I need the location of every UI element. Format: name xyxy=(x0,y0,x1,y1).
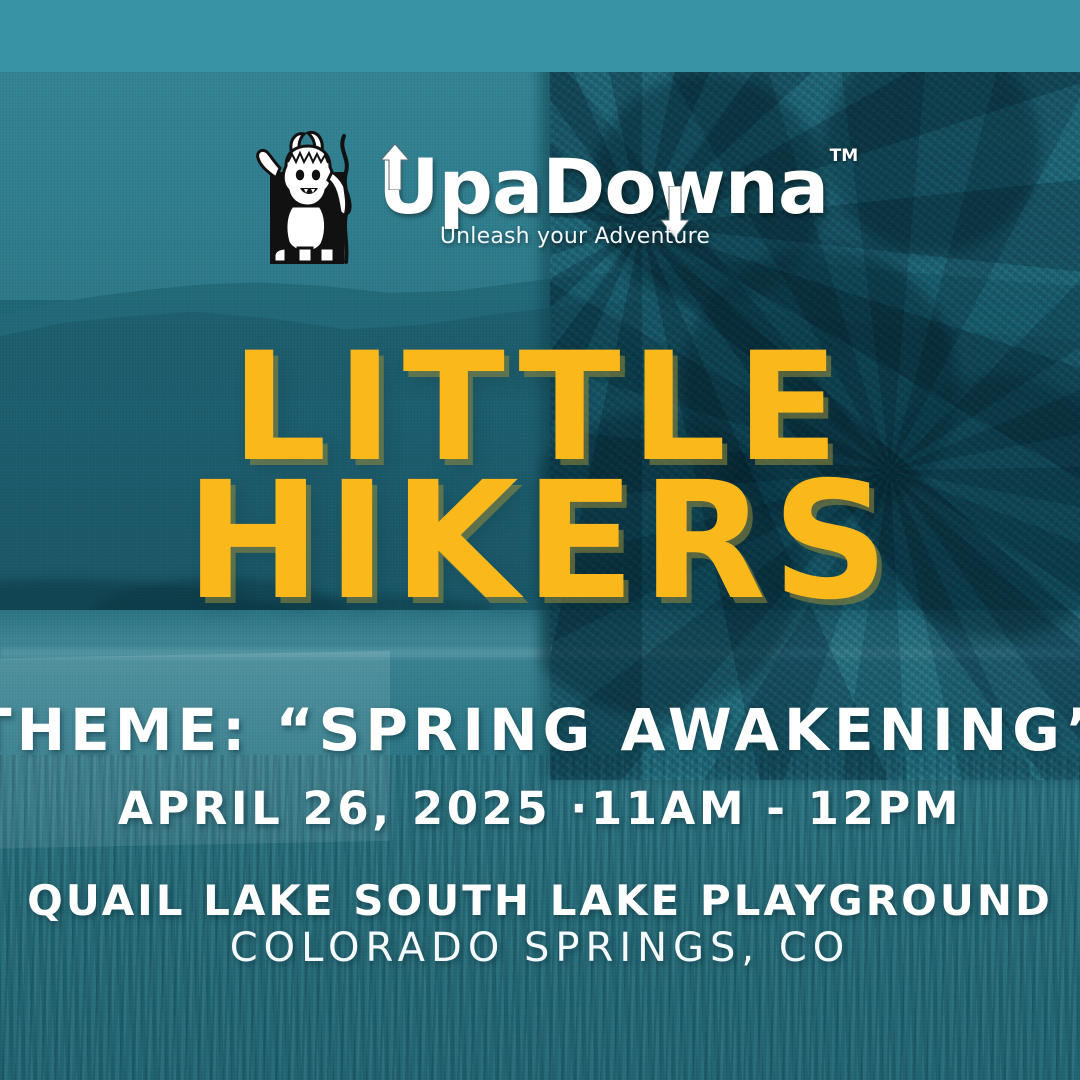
event-city: COLORADO SPRINGS, CO xyxy=(0,925,1080,971)
event-date-time: APRIL 26, 2025 ·11AM - 12PM xyxy=(0,782,1080,835)
arrow-up-icon xyxy=(380,144,410,190)
title-line-2: HIKERS xyxy=(0,464,1080,621)
poster-content: UpaDowna TM Unleash your Adventure LITTL… xyxy=(0,0,1080,1080)
brand-tagline: Unleash your Adventure xyxy=(440,224,828,249)
trademark-symbol: TM xyxy=(830,146,859,166)
event-theme: THEME: “SPRING AWAKENING” xyxy=(0,696,1080,764)
event-title: LITTLE HIKERS xyxy=(0,336,1080,621)
yeti-mascot-icon xyxy=(252,128,364,276)
brand-wordmark: UpaDowna xyxy=(378,152,828,222)
event-poster: UpaDowna TM Unleash your Adventure LITTL… xyxy=(0,0,1080,1080)
brand-logo: UpaDowna TM Unleash your Adventure xyxy=(0,128,1080,276)
event-venue: QUAIL LAKE SOUTH LAKE PLAYGROUND xyxy=(0,876,1080,925)
brand-wordmark-block: UpaDowna TM Unleash your Adventure xyxy=(378,128,828,249)
